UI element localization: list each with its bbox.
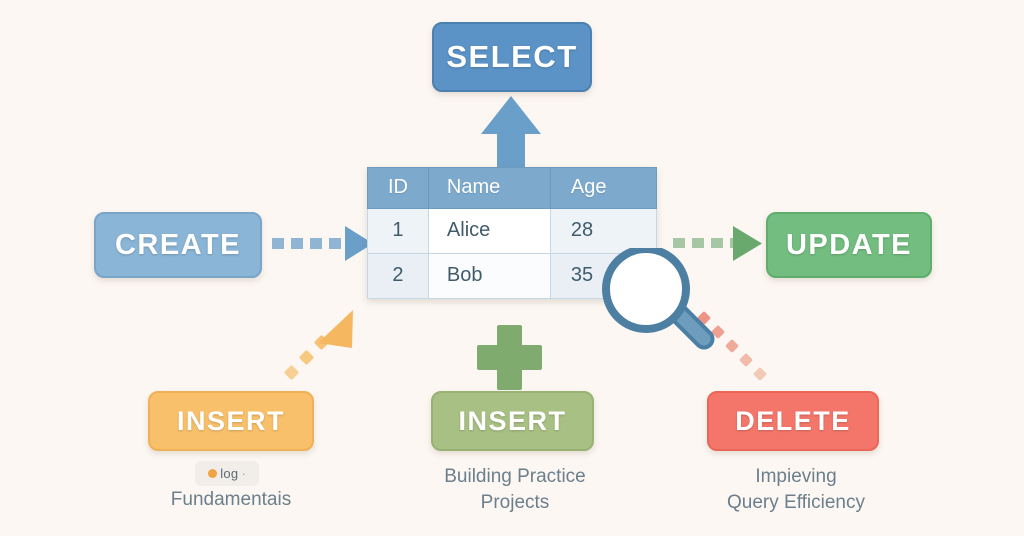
- create-button-label: CREATE: [115, 229, 241, 262]
- cell-age-1: 28: [550, 209, 656, 254]
- cell-name-2: Bob: [428, 254, 550, 299]
- arrow-up-icon: [481, 96, 541, 176]
- magnifying-glass-icon: [597, 248, 725, 360]
- update-button-label: UPDATE: [786, 229, 912, 262]
- cell-id-1: 1: [368, 209, 429, 254]
- insert-button-left[interactable]: INSERT: [148, 391, 314, 451]
- table-header-row: ID Name Age: [368, 168, 657, 209]
- dashed-arrow-right-blue-icon: [272, 226, 373, 261]
- delete-button[interactable]: DELETE: [707, 391, 879, 451]
- caption-query-efficiency: Impieving Query Efficiency: [686, 464, 906, 516]
- select-button[interactable]: SELECT: [432, 22, 592, 92]
- badge-dot-icon: [208, 469, 217, 478]
- diagram-canvas: SELECT CREATE UPDATE INSERT INSERT DELET…: [0, 0, 1024, 536]
- log-badge: log ·: [195, 461, 259, 486]
- badge-tail: ·: [241, 466, 245, 481]
- update-button[interactable]: UPDATE: [766, 212, 932, 278]
- insert-button-left-label: INSERT: [177, 406, 285, 437]
- table-row: 1 Alice 28: [368, 209, 657, 254]
- plus-icon: [477, 325, 542, 390]
- create-button[interactable]: CREATE: [94, 212, 262, 278]
- caption-fundamentals: Fundamentais: [121, 487, 341, 513]
- column-header-name: Name: [428, 168, 550, 209]
- dotted-arrow-diagonal-orange-icon: [284, 310, 353, 380]
- delete-button-label: DELETE: [735, 406, 851, 437]
- cell-name-1: Alice: [428, 209, 550, 254]
- caption-building-practice-projects: Building Practice Projects: [405, 464, 625, 516]
- cell-id-2: 2: [368, 254, 429, 299]
- column-header-age: Age: [550, 168, 656, 209]
- insert-button-center[interactable]: INSERT: [431, 391, 594, 451]
- column-header-id: ID: [368, 168, 429, 209]
- select-button-label: SELECT: [446, 39, 577, 75]
- insert-button-center-label: INSERT: [458, 406, 566, 437]
- badge-label: log: [220, 466, 238, 481]
